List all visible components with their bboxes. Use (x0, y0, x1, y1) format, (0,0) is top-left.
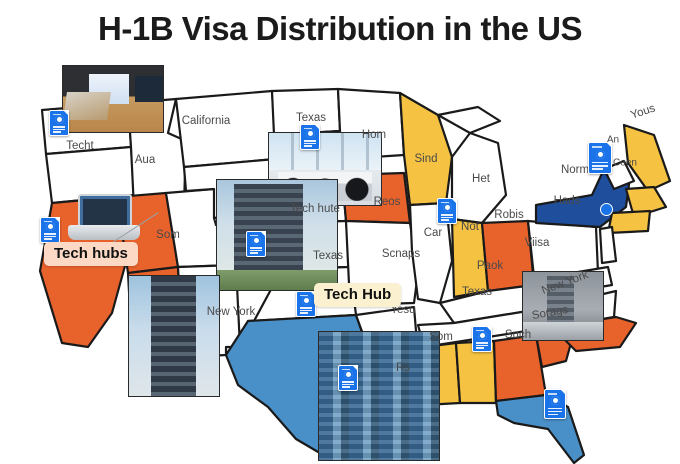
visa-doc-seal-icon (596, 150, 605, 159)
visa-icon-newyork[interactable] (588, 142, 612, 174)
photo-tower-phoenix (128, 275, 220, 397)
visa-icon-texas[interactable] (338, 365, 358, 391)
state-montana (176, 91, 276, 167)
photo-glass-skyscraper (318, 331, 440, 461)
visa-doc-seal-icon (46, 222, 55, 231)
visa-icon-illinois[interactable] (437, 198, 457, 224)
visa-doc-seal-icon (551, 396, 560, 405)
visa-icon-washington[interactable] (49, 110, 69, 136)
state-wisconsin (400, 93, 452, 205)
location-dot-nyc[interactable] (600, 203, 613, 216)
photo-laptop (66, 193, 142, 245)
visa-doc-seal-icon (302, 296, 311, 305)
visa-doc-seal-icon (344, 370, 353, 379)
state-florida (496, 395, 584, 463)
visa-icon-california[interactable] (40, 217, 60, 243)
visa-icon-northdakota[interactable] (300, 124, 320, 150)
visa-doc-seal-icon (252, 236, 261, 245)
callout-tech-hubs[interactable]: Tech hubs (44, 242, 138, 266)
visa-doc-seal-icon (306, 129, 315, 138)
visa-doc-seal-icon (443, 203, 452, 212)
photo-desk-workspace (62, 65, 164, 133)
visa-icon-florida[interactable] (544, 389, 566, 419)
laptop-base (68, 225, 141, 240)
callout-tech-hub[interactable]: Tech Hub (314, 283, 401, 307)
visa-doc-seal-icon (55, 115, 64, 124)
state-michigan-up (438, 107, 500, 133)
photo-tower-denver (216, 179, 338, 291)
visa-doc-seal-icon (478, 331, 487, 340)
state-connecticut (608, 211, 650, 233)
visa-icon-alabama[interactable] (472, 326, 492, 352)
page-title: H-1B Visa Distribution in the US (0, 10, 680, 48)
state-michigan (452, 133, 506, 223)
screenshot-root: H-1B Visa Distribution in the US (0, 0, 680, 464)
state-pennsylvania (528, 221, 598, 277)
photo-city-grey (522, 271, 604, 341)
visa-icon-colorado[interactable] (246, 231, 266, 257)
us-map[interactable]: Techt Aua California Som New York Texas … (0, 55, 680, 464)
state-newjersey (600, 227, 616, 263)
visa-icon-oklahoma[interactable] (296, 291, 316, 317)
